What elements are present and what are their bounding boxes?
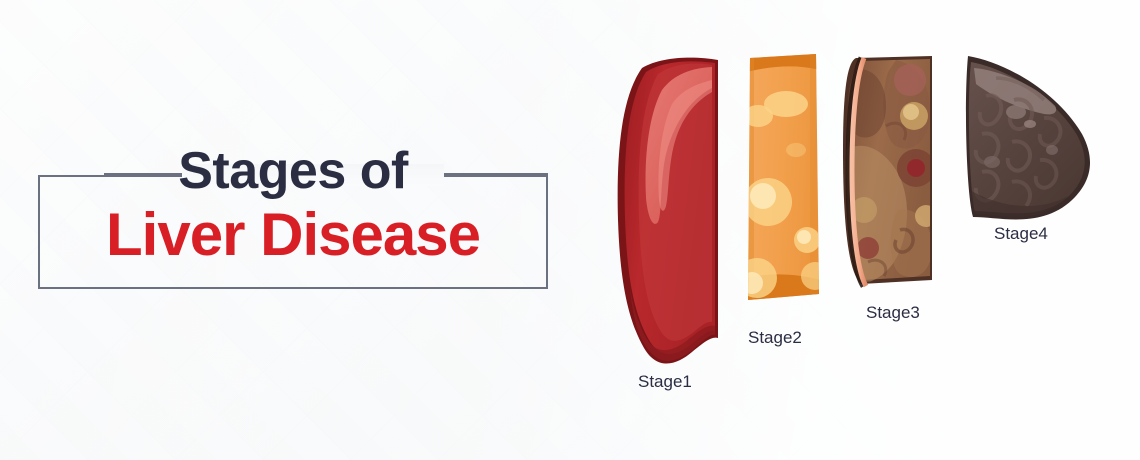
banner-root: Stages of Liver Disease bbox=[0, 0, 1140, 460]
stage-label-2: Stage2 bbox=[748, 328, 802, 348]
liver-stage4-shape bbox=[966, 56, 1090, 219]
liver-stage2-shape bbox=[737, 50, 829, 308]
liver-stage1-shape bbox=[618, 58, 718, 364]
liver-stage3-shape bbox=[842, 56, 937, 304]
title-block: Stages of Liver Disease bbox=[38, 140, 550, 290]
stage-label-4: Stage4 bbox=[994, 224, 1048, 244]
page-title-primary: Stages of bbox=[38, 140, 548, 202]
stage-label-3: Stage3 bbox=[866, 303, 920, 323]
stage-label-1: Stage1 bbox=[638, 372, 692, 392]
page-title-secondary: Liver Disease bbox=[38, 198, 548, 272]
